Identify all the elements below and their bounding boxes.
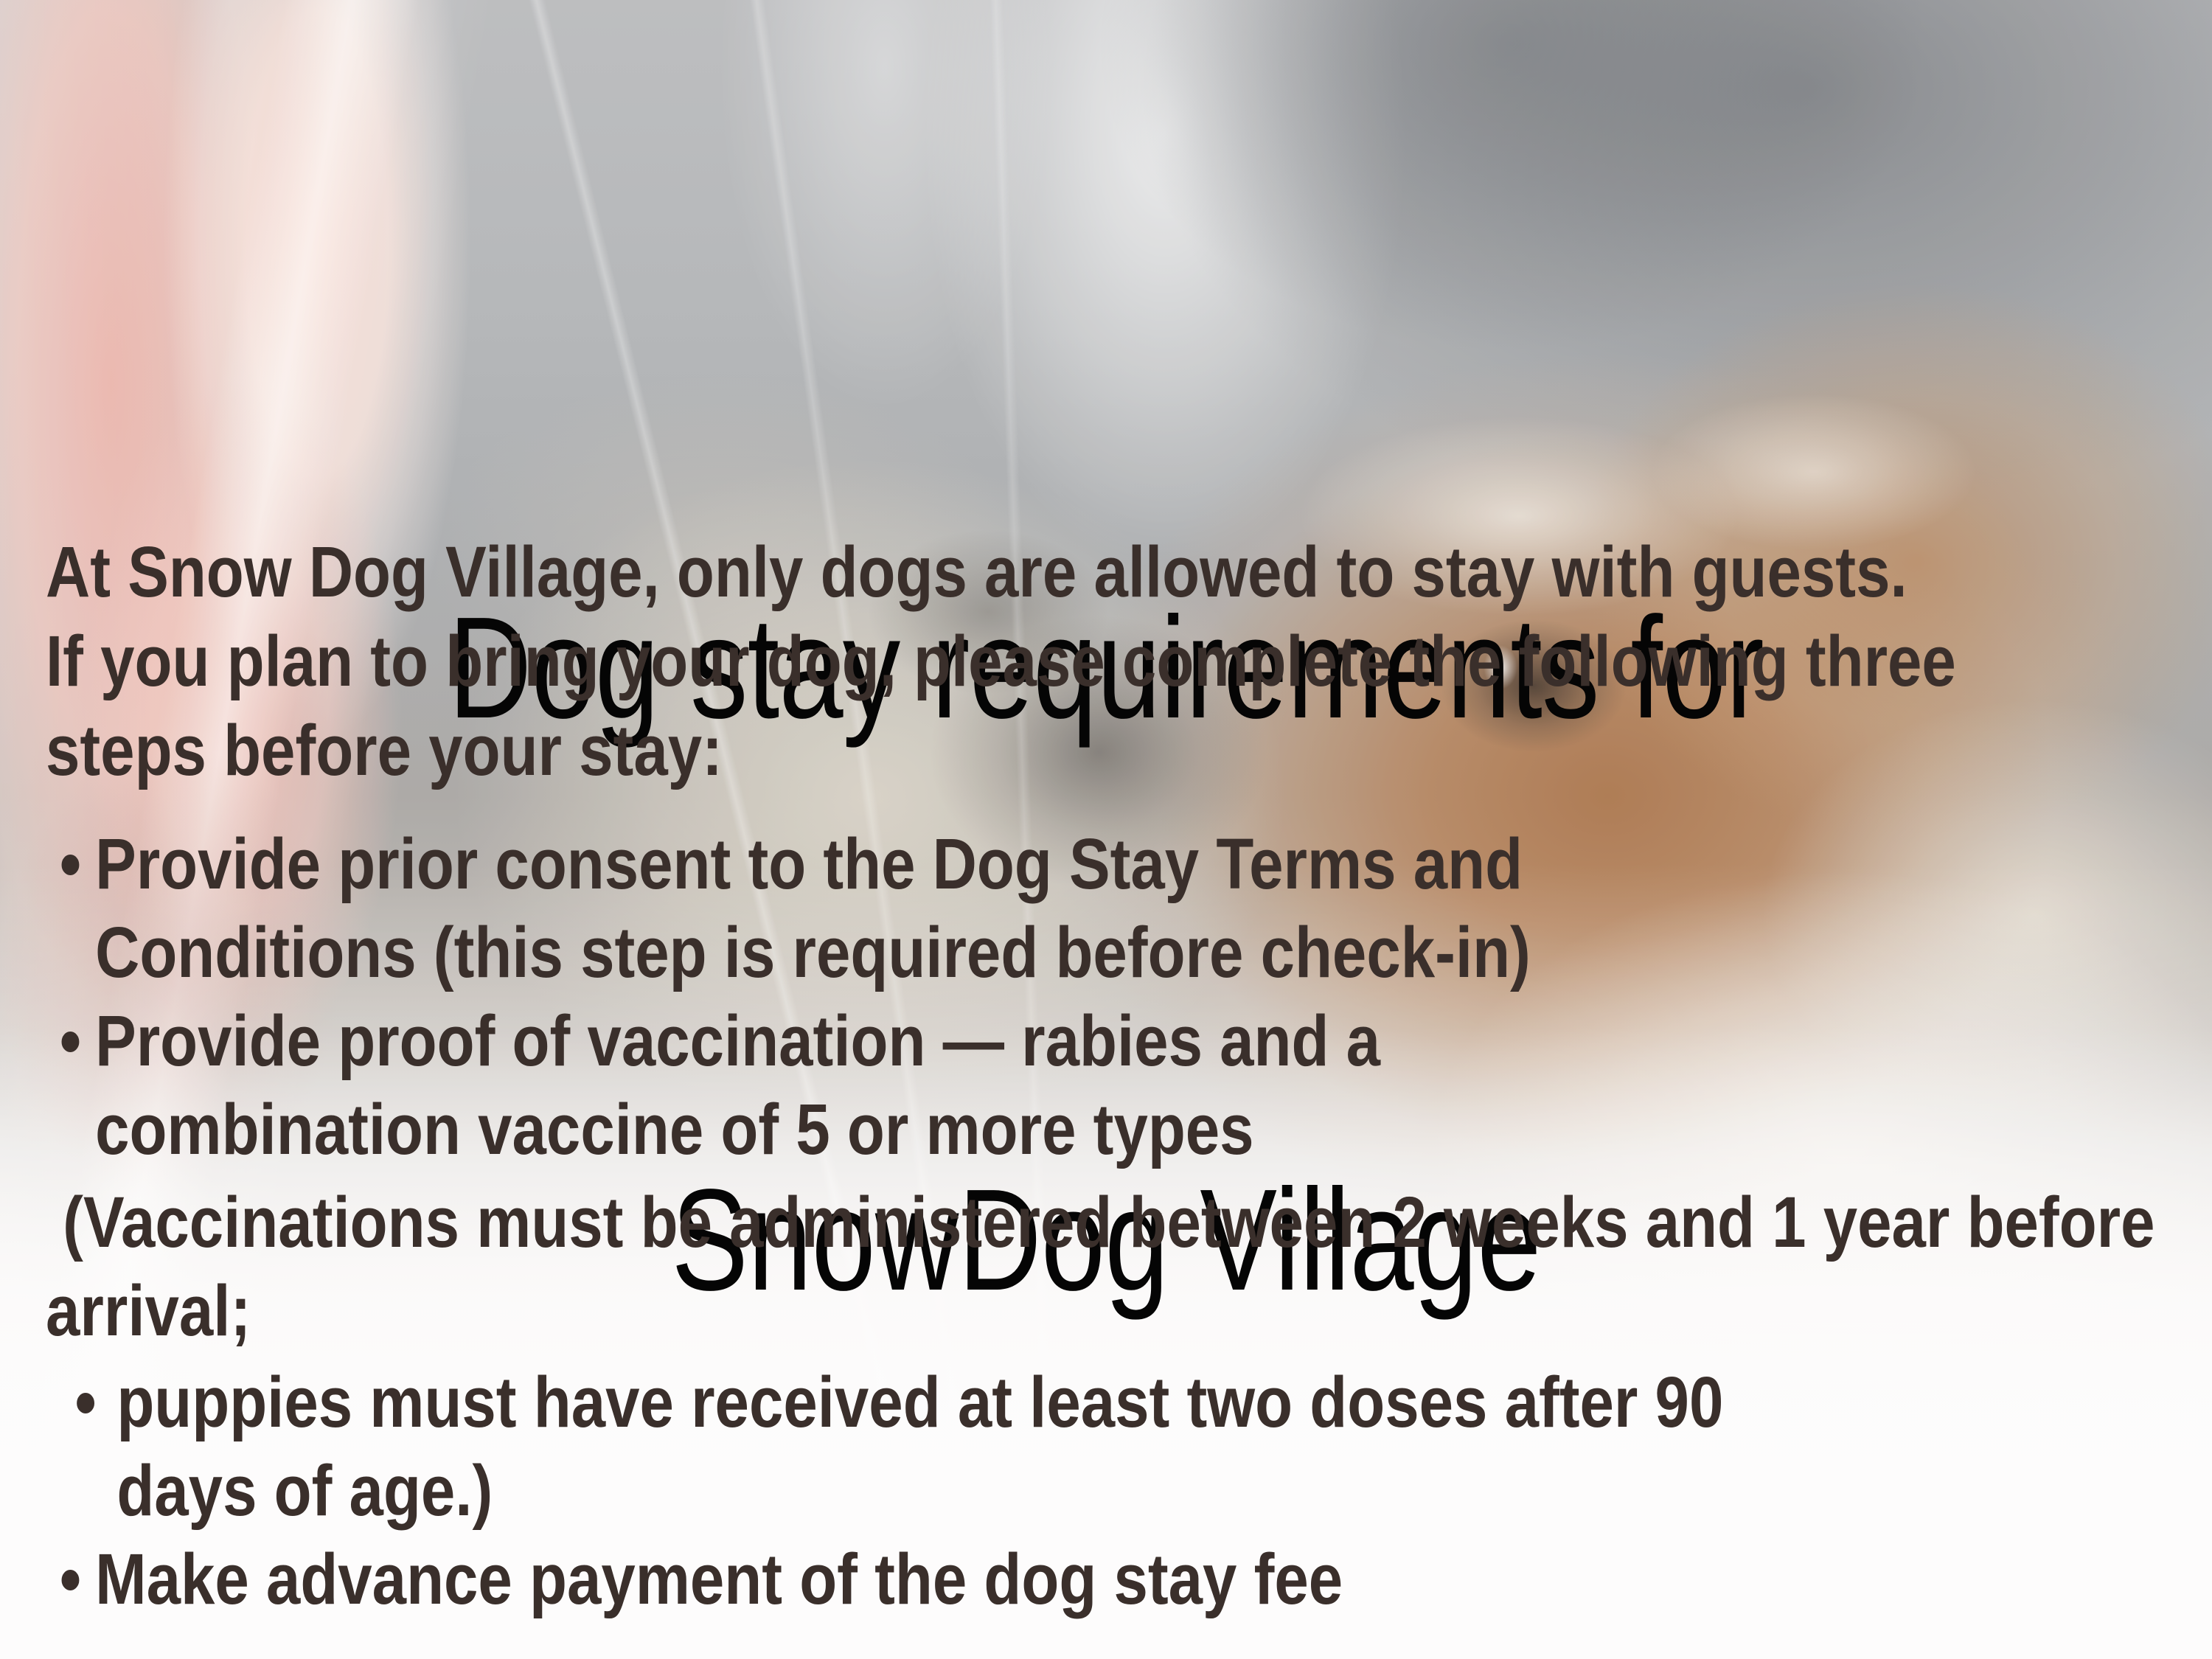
vaccination-note: (Vaccinations must be administered betwe… xyxy=(46,1178,1885,1355)
requirements-list-continued: • puppies must have received at least tw… xyxy=(46,1358,1885,1624)
bullet-marker-icon: • xyxy=(60,997,81,1085)
list-item-text: puppies must have received at least two … xyxy=(116,1358,1740,1535)
list-item: • Make advance payment of the dog stay f… xyxy=(46,1535,1885,1624)
list-item: • Provide prior consent to the Dog Stay … xyxy=(46,820,1885,997)
intro-line-2: If you plan to bring your dog, please co… xyxy=(46,617,1885,706)
intro-paragraph: At Snow Dog Village, only dogs are allow… xyxy=(46,528,1885,795)
list-item-text: Provide proof of vaccination — rabies an… xyxy=(95,997,1719,1174)
intro-line-3: steps before your stay: xyxy=(46,706,1885,795)
vaccination-note-line-2: arrival; xyxy=(46,1267,1885,1355)
bullet-marker-icon: • xyxy=(75,1358,97,1447)
list-item-text: Provide prior consent to the Dog Stay Te… xyxy=(95,820,1719,997)
requirements-list: • Provide prior consent to the Dog Stay … xyxy=(46,820,1885,1174)
list-item: • puppies must have received at least tw… xyxy=(46,1358,1885,1535)
slide-canvas: Dog stay requirements for SnowDog Villag… xyxy=(0,0,2212,1659)
bullet-marker-icon: • xyxy=(60,1535,81,1624)
slide-body: At Snow Dog Village, only dogs are allow… xyxy=(46,528,1885,1624)
bullet-marker-icon: • xyxy=(60,820,81,908)
vaccination-note-line-1: (Vaccinations must be administered betwe… xyxy=(46,1178,1885,1267)
intro-line-1: At Snow Dog Village, only dogs are allow… xyxy=(46,528,1885,616)
slide-content: Dog stay requirements for SnowDog Villag… xyxy=(0,0,2212,1659)
list-item-text: Make advance payment of the dog stay fee xyxy=(95,1535,1719,1624)
list-item: • Provide proof of vaccination — rabies … xyxy=(46,997,1885,1174)
